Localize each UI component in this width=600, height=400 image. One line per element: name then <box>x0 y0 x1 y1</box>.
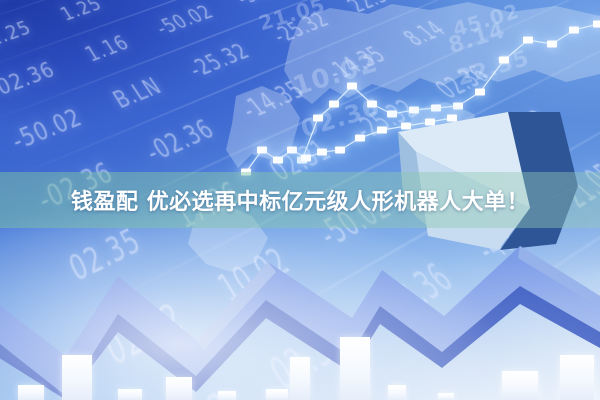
bar <box>290 357 310 400</box>
bar <box>62 355 92 400</box>
page-title: 钱盈配 优必选再中标亿元级人形机器人大单！ <box>0 172 600 228</box>
bar <box>388 385 406 400</box>
bar <box>266 389 288 400</box>
bar <box>166 377 192 400</box>
bar <box>118 389 142 400</box>
bar <box>18 385 44 400</box>
bar <box>502 371 538 400</box>
bar <box>218 391 236 400</box>
bar <box>438 393 454 400</box>
banner-image: -45.02-11.25-50.02-02.3621.05-11.25-02.3… <box>0 0 600 400</box>
bar <box>560 355 594 400</box>
bar <box>340 337 370 400</box>
